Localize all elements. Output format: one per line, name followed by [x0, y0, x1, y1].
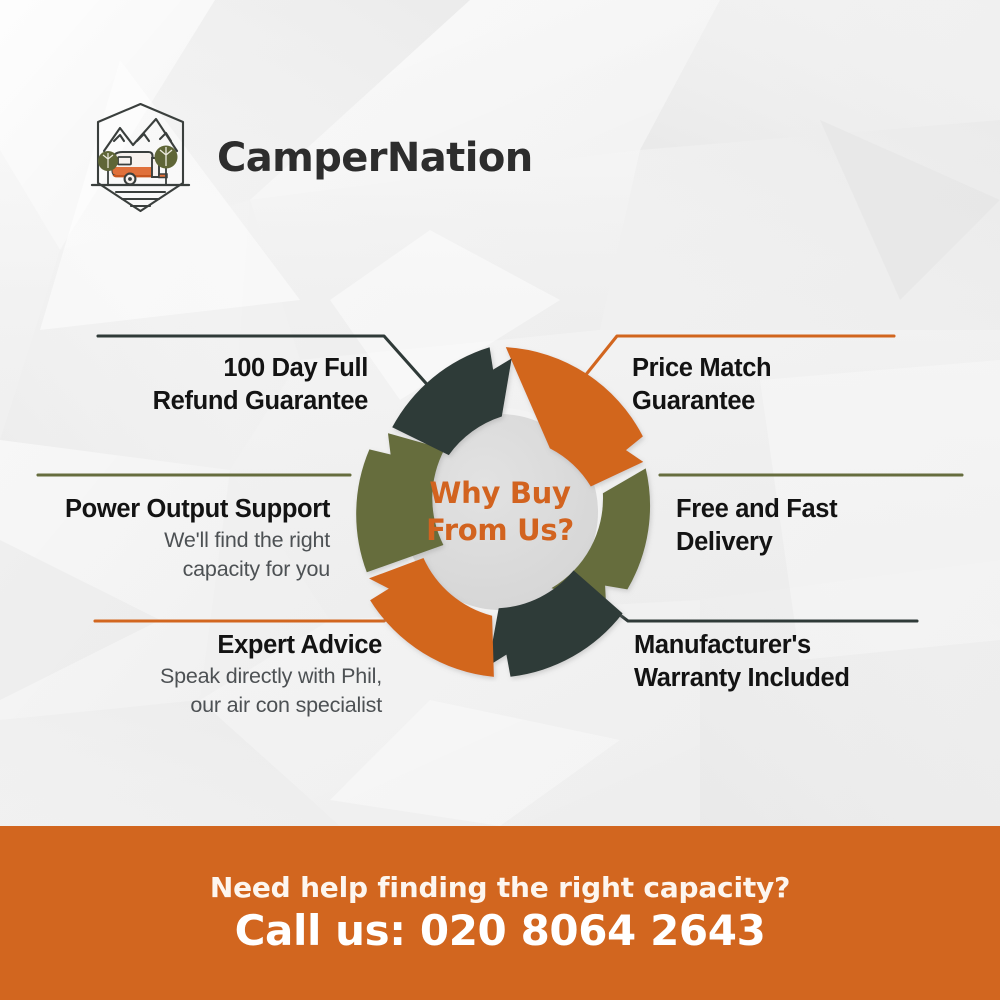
- callout-expert-sub-line2: our air con specialist: [10, 691, 382, 720]
- callout-refund-title-line2: Refund Guarantee: [10, 385, 368, 418]
- callout-power-sub-line1: We'll find the right: [8, 526, 330, 555]
- callout-expert-title: Expert Advice: [10, 629, 382, 662]
- callout-expert-advice[interactable]: Expert Advice Speak directly with Phil, …: [10, 629, 382, 719]
- callout-power-title: Power Output Support: [8, 493, 330, 526]
- callout-warranty-title-line2: Warranty Included: [634, 662, 994, 695]
- callout-power-output[interactable]: Power Output Support We'll find the righ…: [8, 493, 330, 583]
- callout-refund-title-line1: 100 Day Full: [10, 352, 368, 385]
- callout-delivery-title-line1: Free and Fast: [676, 493, 996, 526]
- infographic-canvas: CamperNation: [0, 0, 1000, 1000]
- callout-power-sub-line2: capacity for you: [8, 555, 330, 584]
- callout-price-match[interactable]: Price Match Guarantee: [632, 352, 972, 418]
- callout-warranty[interactable]: Manufacturer's Warranty Included: [634, 629, 994, 695]
- callout-price-title-line2: Guarantee: [632, 385, 972, 418]
- callout-price-title-line1: Price Match: [632, 352, 972, 385]
- callout-expert-sub-line1: Speak directly with Phil,: [10, 662, 382, 691]
- callout-delivery-title-line2: Delivery: [676, 526, 996, 559]
- contact-footer-bar: Need help finding the right capacity? Ca…: [0, 826, 1000, 1000]
- footer-phone-cta[interactable]: Call us: 020 8064 2643: [235, 906, 766, 955]
- brand-name: CamperNation: [217, 135, 533, 181]
- brand-logo[interactable]: CamperNation: [78, 95, 478, 220]
- camper-trailer-mountain-badge-icon: [78, 95, 203, 220]
- footer-question: Need help finding the right capacity?: [210, 871, 790, 904]
- callout-warranty-title-line1: Manufacturer's: [634, 629, 994, 662]
- callout-delivery[interactable]: Free and Fast Delivery: [676, 493, 996, 559]
- callout-refund[interactable]: 100 Day Full Refund Guarantee: [10, 352, 368, 418]
